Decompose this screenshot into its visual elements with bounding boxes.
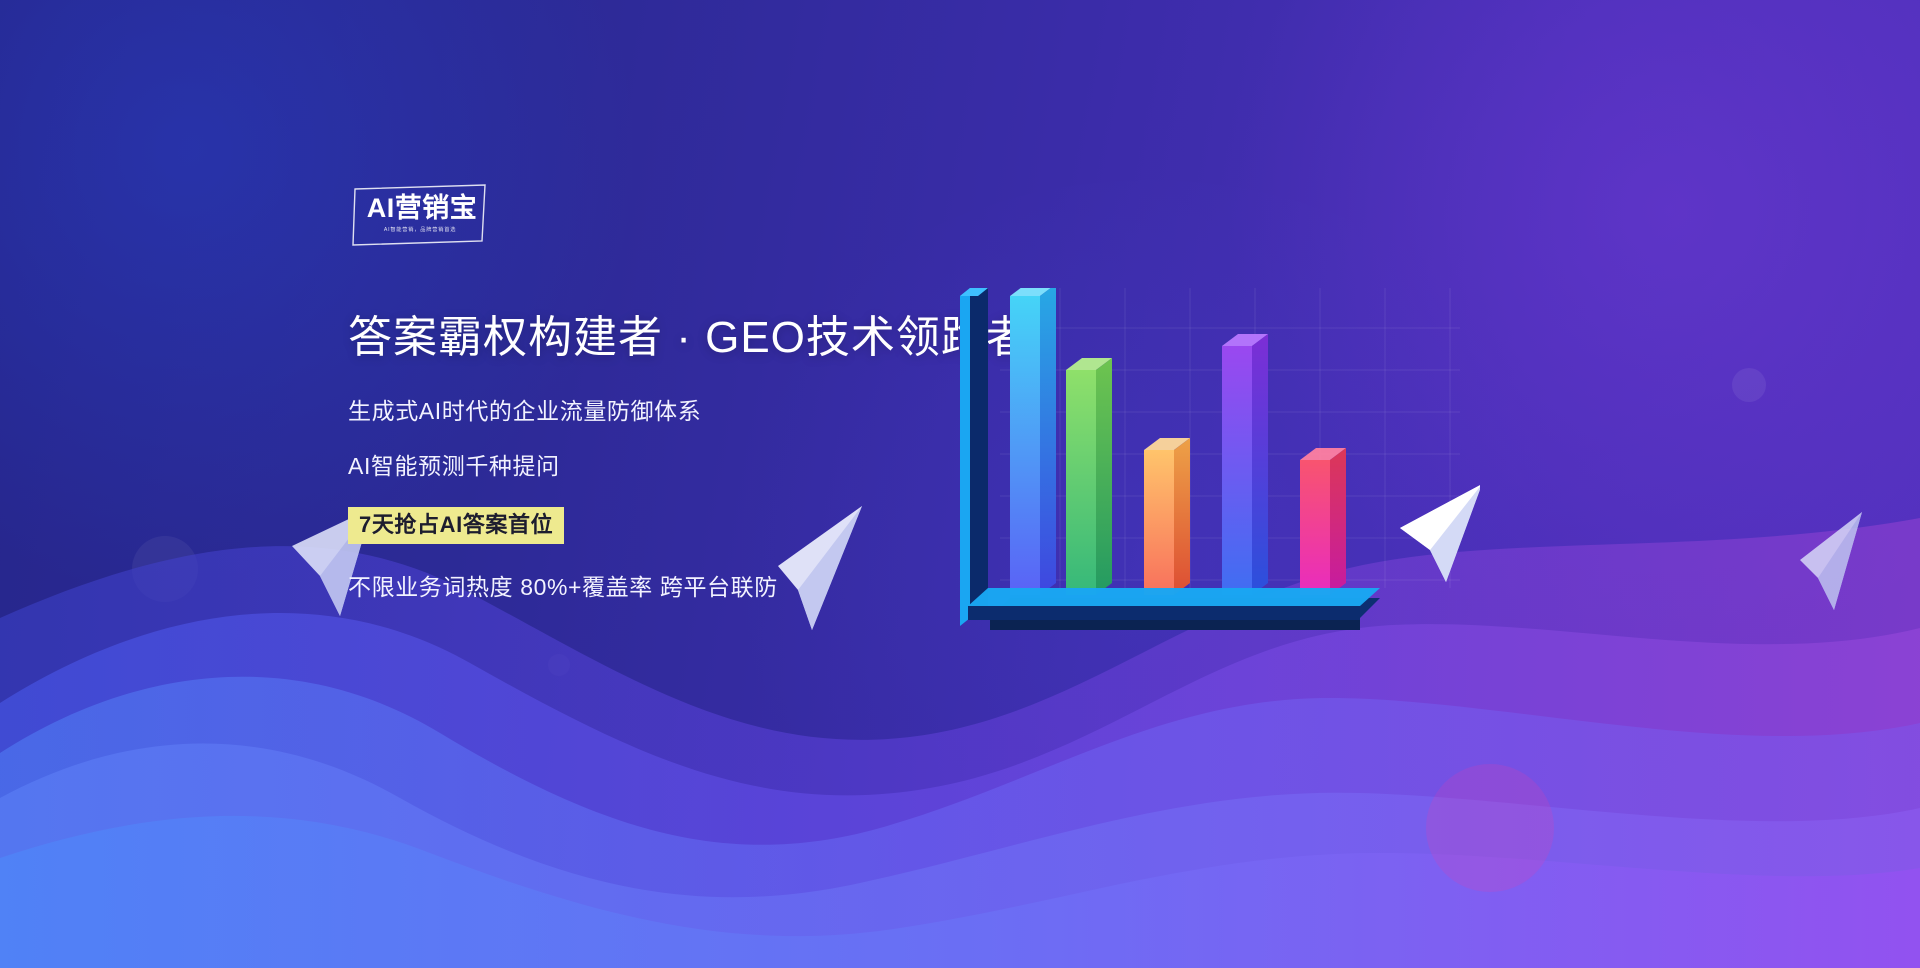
chart-bar: [1300, 448, 1346, 595]
paper-plane-icon: [1400, 484, 1480, 582]
chart-bar: [1222, 334, 1268, 595]
highlight-badge: 7天抢占AI答案首位: [348, 507, 564, 544]
decorative-bubble: [1732, 368, 1766, 402]
chart-y-axis: [960, 288, 988, 626]
bar-chart-illustration: [960, 288, 1480, 668]
chart-bar: [1010, 288, 1056, 595]
chart-bar: [1144, 438, 1190, 595]
brand-logo-text: AI营销宝: [364, 195, 480, 222]
chart-ground-front: [968, 588, 1380, 620]
decorative-bubble: [1426, 764, 1554, 892]
chart-bar: [1066, 358, 1112, 595]
hero-banner: AI营销宝 AI智能营销，品牌营销首选 答案霸权构建者 · GEO技术领跑者 生…: [0, 0, 1920, 968]
brand-logo[interactable]: AI营销宝 AI智能营销，品牌营销首选: [352, 184, 488, 246]
brand-logo-tagline: AI智能营销，品牌营销首选: [352, 226, 488, 233]
